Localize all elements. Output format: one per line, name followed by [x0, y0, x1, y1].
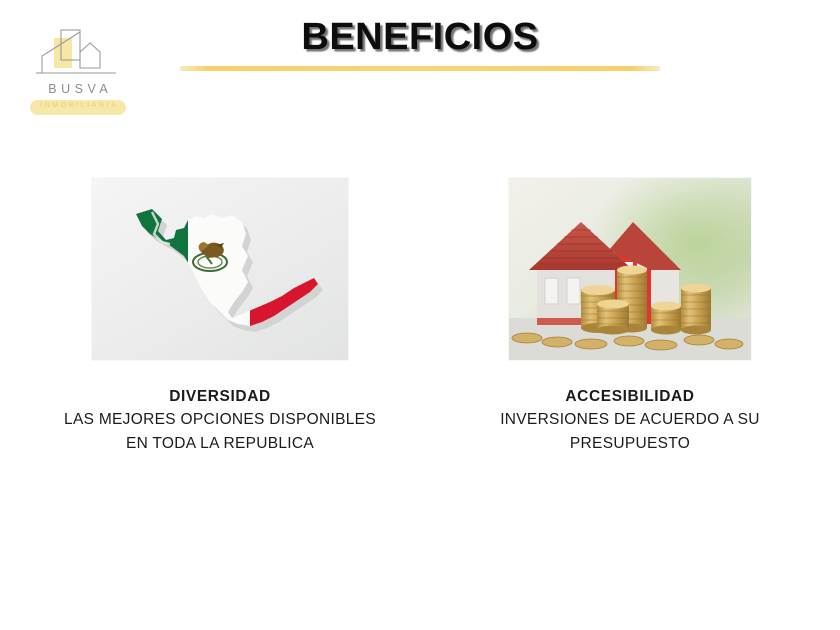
slide-canvas: BUSVA INMOBILIARIA BENEFICIOS — [0, 0, 840, 630]
benefit-body: LAS MEJORES OPCIONES DISPONIBLES EN TODA… — [18, 408, 422, 455]
logo-wordmark: BUSVA — [28, 82, 128, 96]
benefit-column-accesibilidad: ACCESIBILIDAD INVERSIONES DE ACUERDO A S… — [438, 178, 822, 455]
title-divider — [180, 66, 660, 71]
benefit-heading: DIVERSIDAD — [18, 386, 422, 408]
house-and-coins-photo — [509, 178, 751, 360]
benefit-column-diversidad: DIVERSIDAD LAS MEJORES OPCIONES DISPONIB… — [18, 178, 422, 455]
benefit-body: INVERSIONES DE ACUERDO A SU PRESUPUESTO — [438, 408, 822, 455]
page-title: BENEFICIOS — [0, 16, 840, 59]
logo-tagline: INMOBILIARIA — [30, 102, 126, 109]
benefit-caption-accesibilidad: ACCESIBILIDAD INVERSIONES DE ACUERDO A S… — [438, 386, 822, 455]
benefit-heading: ACCESIBILIDAD — [438, 386, 822, 408]
benefit-caption-diversidad: DIVERSIDAD LAS MEJORES OPCIONES DISPONIB… — [18, 386, 422, 455]
mexico-map-flag-photo — [92, 178, 348, 360]
logo-tagline-band: INMOBILIARIA — [30, 100, 126, 115]
